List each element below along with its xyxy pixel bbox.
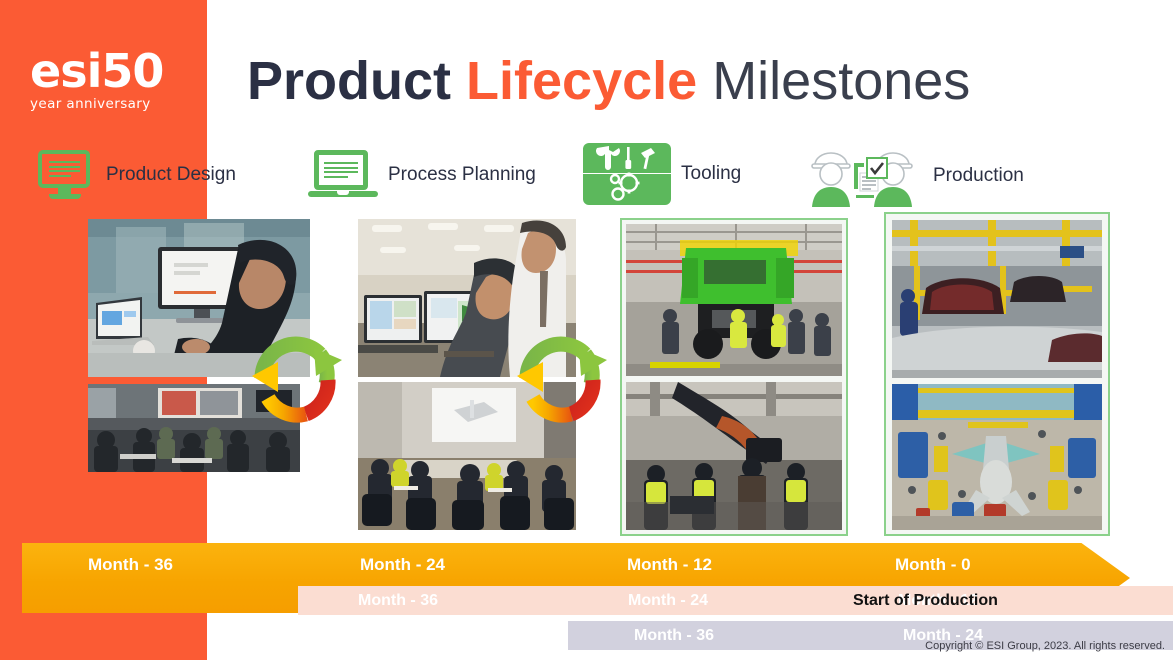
photo-robotic-body-assembly xyxy=(626,382,842,530)
logo-wordmark: esi50 xyxy=(30,48,180,94)
monitor-icon xyxy=(38,150,96,200)
iteration-loop-2-icon xyxy=(513,322,609,434)
photo-aircraft-final-assembly xyxy=(892,384,1102,530)
page-title: Product Lifecycle Milestones xyxy=(247,50,970,112)
milestone-label-2: Process Planning xyxy=(388,164,536,186)
milestone-process-planning: Process Planning xyxy=(308,150,536,200)
slide-canvas: esi50 year anniversary Product Lifecycle… xyxy=(0,0,1173,660)
milestone-tooling: Tooling xyxy=(583,143,741,205)
logo-tagline: year anniversary xyxy=(30,96,180,112)
band2-label-0: Month - 36 xyxy=(358,592,438,610)
laptop-icon xyxy=(308,150,378,200)
milestone-production: Production xyxy=(805,143,1024,209)
timeline-label-1: Month - 24 xyxy=(360,555,445,575)
esi-logo: esi50 year anniversary xyxy=(30,48,180,118)
tools-gears-icon xyxy=(583,143,671,205)
photo-truck-assembly-green xyxy=(626,224,842,376)
title-part-3: Milestones xyxy=(712,51,970,111)
milestone-label-4: Production xyxy=(933,165,1024,187)
title-part-1: Product xyxy=(247,51,451,111)
copyright-notice: Copyright © ESI Group, 2023. All rights … xyxy=(925,640,1165,652)
timeline-label-3: Month - 0 xyxy=(895,555,971,575)
band2-label-1: Month - 24 xyxy=(628,592,708,610)
milestone-product-design: Product Design xyxy=(38,150,236,200)
band3-label-0: Month - 36 xyxy=(634,627,714,645)
band2-label-3: Start of Production xyxy=(853,592,998,610)
timeline-label-2: Month - 12 xyxy=(627,555,712,575)
workers-checklist-icon xyxy=(805,143,923,209)
photo-car-body-conveyor xyxy=(892,220,1102,378)
title-part-2: Lifecycle xyxy=(466,51,697,111)
timeline-band-secondary: Month - 36 Month - 24 Month - 12 Start o… xyxy=(298,586,1173,615)
iteration-loop-1-icon xyxy=(248,322,344,434)
milestone-label-3: Tooling xyxy=(681,163,741,185)
timeline-label-0: Month - 36 xyxy=(88,555,173,575)
milestone-label-1: Product Design xyxy=(106,164,236,186)
